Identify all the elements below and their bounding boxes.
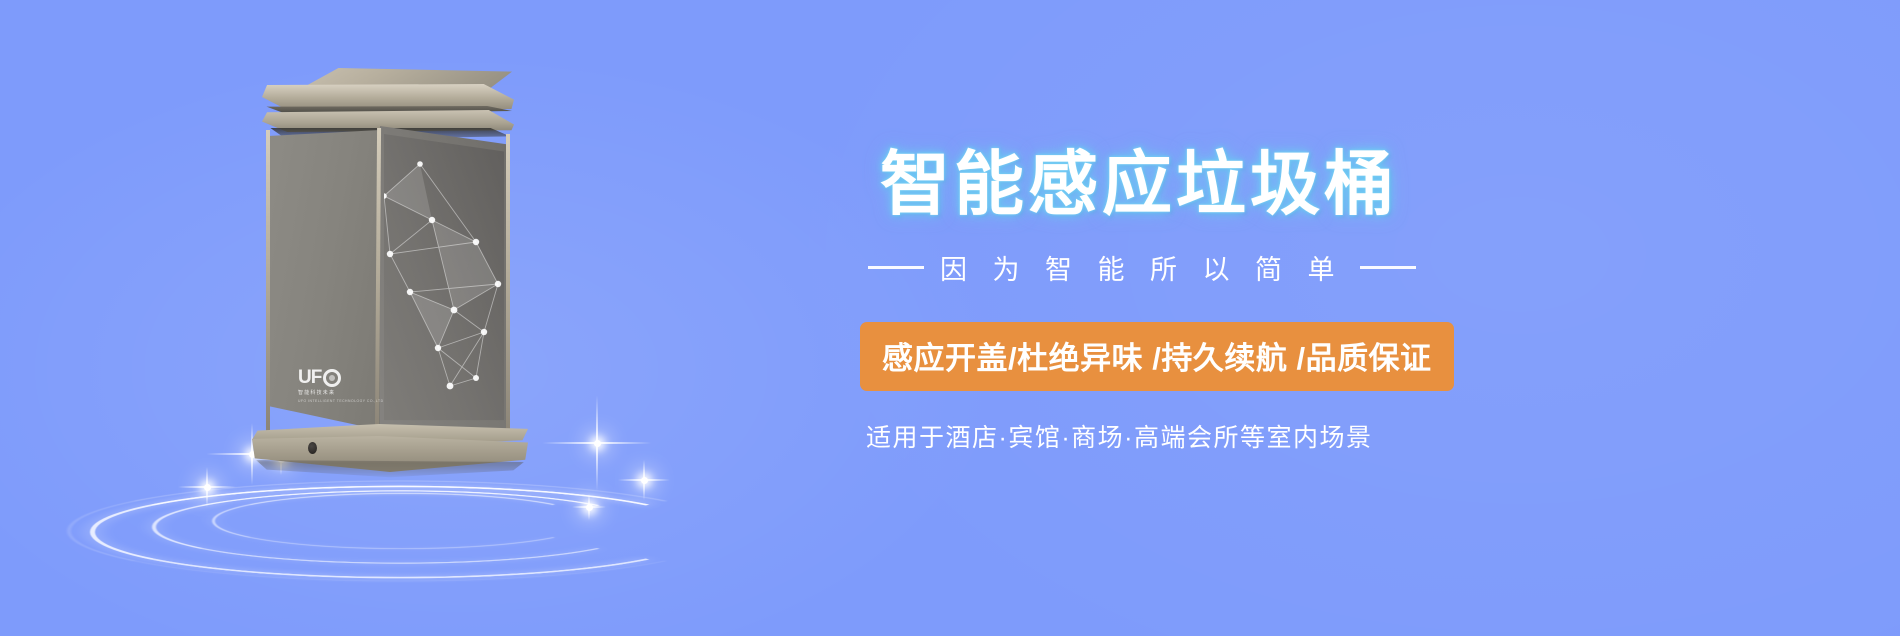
logo-wordmark: UF (298, 368, 321, 387)
sparkle-icon (618, 454, 670, 506)
sparkle-core (204, 484, 211, 491)
trash-bin-body: UF 智能科技未来 UFO INTELLIGENT TECHNOLOGY CO.… (212, 50, 542, 470)
brand-logo: UF 智能科技未来 UFO INTELLIGENT TECHNOLOGY CO.… (298, 368, 360, 414)
feature-badge-text: 感应开盖/杜绝异味 /持久续航 /品质保证 (882, 341, 1432, 376)
water-ripple-inner (212, 493, 592, 549)
product-illustration: UF 智能科技未来 UFO INTELLIGENT TECHNOLOGY CO.… (60, 30, 760, 590)
subline-rule-left (868, 266, 924, 269)
ufo-ring-icon (323, 369, 341, 387)
sparkle-core (586, 504, 593, 511)
sparkle-core (641, 477, 648, 484)
bin-corner-edge-right (506, 134, 510, 438)
logo-chinese-subtitle: 智能科技未来 (298, 389, 360, 396)
logo-micro-subtitle: UFO INTELLIGENT TECHNOLOGY CO.,LTD (298, 399, 360, 404)
subline-rule-right (1360, 266, 1416, 269)
sparkle-core (594, 440, 601, 447)
ir-sensor-icon (308, 442, 317, 454)
bin-glass-panel (384, 134, 504, 426)
banner-copy-block: 智能感应垃圾桶 因 为 智 能 所 以 简 单 感应开盖/杜绝异味 /持久续航 … (880, 0, 1900, 636)
banner-headline: 智能感应垃圾桶 (880, 128, 1580, 229)
logo-wordmark-row: UF (298, 368, 360, 387)
bin-corner-edge-left (266, 130, 270, 432)
feature-badge: 感应开盖/杜绝异味 /持久续航 /品质保证 (860, 322, 1454, 391)
polygon-network-graphic (384, 134, 504, 426)
sparkle-icon (572, 490, 606, 524)
subline-text: 因 为 智 能 所 以 简 单 (940, 248, 1344, 287)
banner-footnote: 适用于酒店·宾馆·商场·高端会所等室内场景 (866, 418, 1372, 454)
banner-subline: 因 为 智 能 所 以 简 单 (868, 248, 1416, 287)
promo-banner: UF 智能科技未来 UFO INTELLIGENT TECHNOLOGY CO.… (0, 0, 1900, 636)
